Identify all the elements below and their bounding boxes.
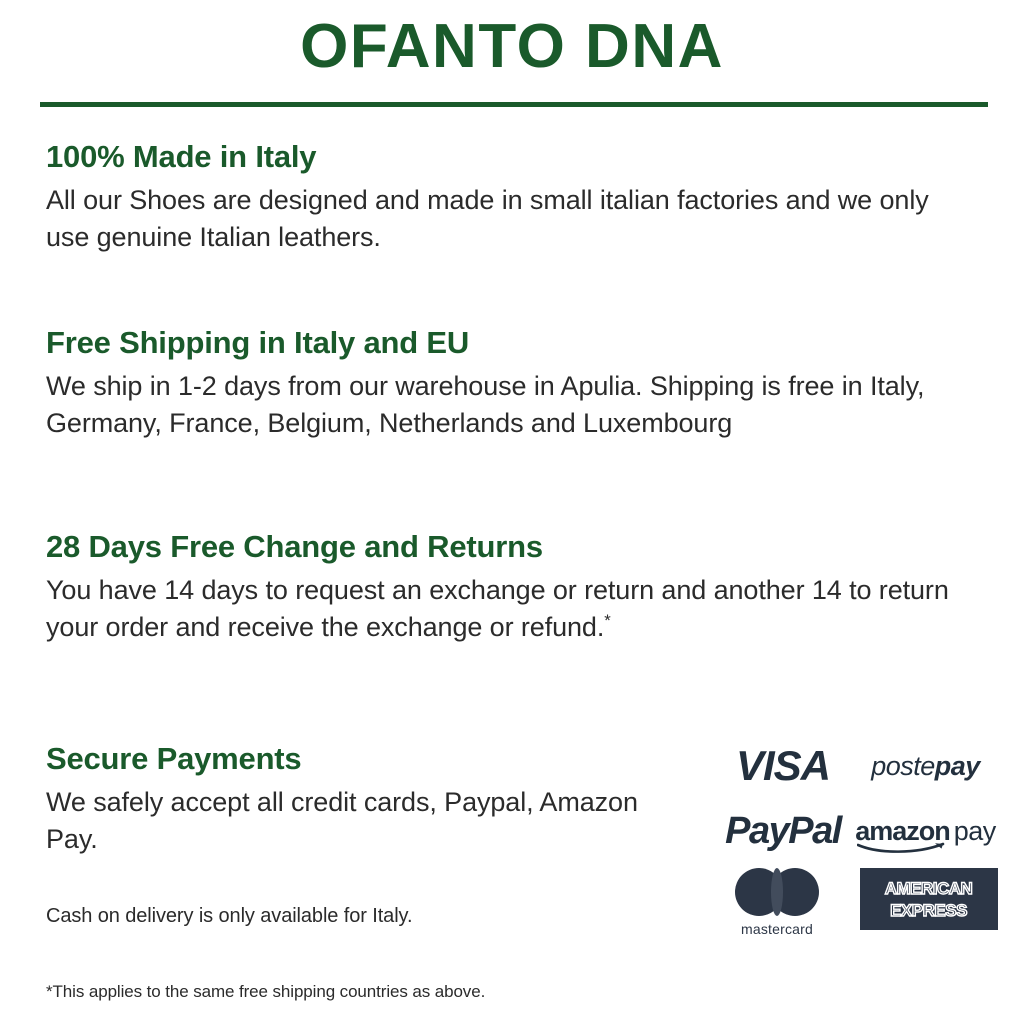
mastercard-circle-overlap bbox=[771, 868, 783, 916]
promo-info-panel: OFANTO DNA 100% Made in Italy All our Sh… bbox=[0, 0, 1024, 1024]
visa-logo: VISA bbox=[718, 745, 848, 787]
page-title: OFANTO DNA bbox=[0, 16, 1024, 78]
section-heading-returns: 28 Days Free Change and Returns bbox=[46, 528, 996, 566]
mastercard-circles-icon bbox=[735, 868, 819, 916]
returns-footnote: *This applies to the same free shipping … bbox=[46, 982, 485, 1002]
postepay-logo-text: postepay bbox=[871, 753, 980, 780]
paypal-logo-text: PayPal bbox=[725, 812, 841, 850]
visa-logo-text: VISA bbox=[736, 745, 830, 787]
postepay-logo-text-light: poste bbox=[871, 751, 935, 781]
mastercard-logo: mastercard bbox=[718, 868, 836, 937]
section-heading-free-shipping: Free Shipping in Italy and EU bbox=[46, 324, 946, 362]
section-secure-payments: Secure Payments We safely accept all cre… bbox=[46, 740, 666, 858]
amazon-pay-logo-text-light: pay bbox=[954, 816, 996, 846]
returns-footnote-marker: * bbox=[604, 611, 610, 630]
section-heading-made-in-italy: 100% Made in Italy bbox=[46, 138, 946, 176]
american-express-line2: EXPRESS bbox=[888, 901, 969, 920]
amazon-swoosh-icon bbox=[857, 842, 953, 854]
payment-row-1: VISA postepay bbox=[718, 738, 1003, 794]
amazon-pay-logo-text: amazonpay bbox=[855, 818, 996, 845]
american-express-box: AMERICAN EXPRESS bbox=[860, 868, 998, 930]
section-body-secure-payments: We safely accept all credit cards, Paypa… bbox=[46, 784, 666, 859]
paypal-logo: PayPal bbox=[718, 812, 848, 850]
payment-methods: VISA postepay PayPal amazonpay bbox=[718, 738, 1003, 938]
section-body-returns-text: You have 14 days to request an exchange … bbox=[46, 575, 949, 642]
section-heading-secure-payments: Secure Payments bbox=[46, 740, 666, 778]
mastercard-logo-text: mastercard bbox=[735, 921, 819, 937]
amazon-pay-logo: amazonpay bbox=[848, 818, 1003, 845]
postepay-logo-text-bold: pay bbox=[935, 751, 980, 781]
cash-on-delivery-note: Cash on delivery is only available for I… bbox=[46, 905, 412, 928]
payment-row-3: mastercard AMERICAN EXPRESS bbox=[718, 868, 1003, 938]
title-divider bbox=[40, 102, 988, 107]
section-free-shipping: Free Shipping in Italy and EU We ship in… bbox=[46, 324, 946, 442]
section-made-in-italy: 100% Made in Italy All our Shoes are des… bbox=[46, 138, 946, 256]
postepay-logo: postepay bbox=[848, 753, 1003, 780]
section-body-made-in-italy: All our Shoes are designed and made in s… bbox=[46, 182, 946, 257]
section-body-free-shipping: We ship in 1-2 days from our warehouse i… bbox=[46, 368, 946, 443]
american-express-line1: AMERICAN bbox=[883, 879, 975, 898]
payment-row-2: PayPal amazonpay bbox=[718, 802, 1003, 860]
section-body-returns: You have 14 days to request an exchange … bbox=[46, 572, 996, 647]
section-returns: 28 Days Free Change and Returns You have… bbox=[46, 528, 996, 646]
american-express-logo: AMERICAN EXPRESS bbox=[836, 868, 1003, 930]
